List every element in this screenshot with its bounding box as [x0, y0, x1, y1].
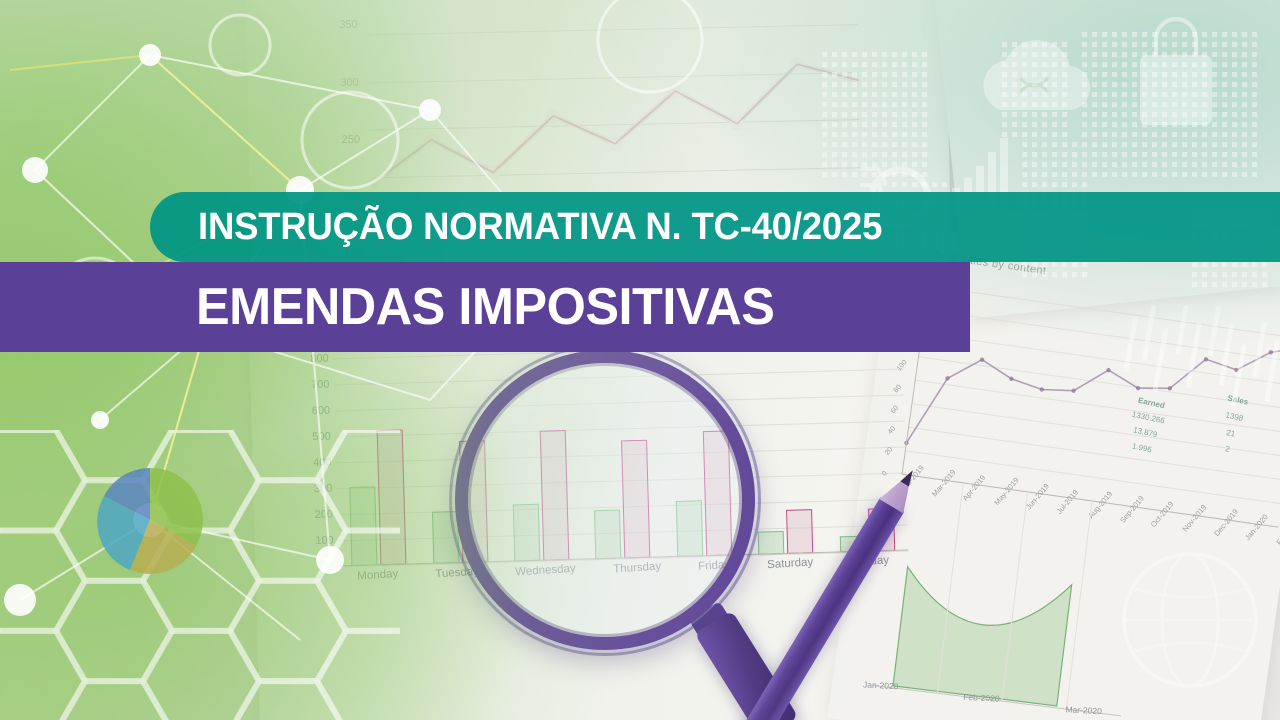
cloud-sync-icon	[983, 40, 1090, 110]
x-tick-label: Jan-2020	[863, 679, 899, 691]
lock-icon	[1140, 19, 1212, 125]
node-network-graphic	[0, 0, 760, 720]
x-tick-label: Mar-2020	[1065, 704, 1102, 716]
globe-icon	[1110, 540, 1270, 700]
banner-title-line1: INSTRUÇÃO NORMATIVA N. TC-40/2025	[198, 206, 882, 249]
poster-canvas: 150200250300350 010020030040050060070080…	[0, 0, 1280, 720]
bar-group	[753, 345, 814, 554]
bar	[758, 531, 785, 555]
small-pie-icon	[97, 468, 203, 574]
banner-title-line2: EMENDAS IMPOSITIVAS	[196, 277, 774, 337]
x-tick-label: Saturday	[767, 556, 815, 593]
banner-purple: EMENDAS IMPOSITIVAS	[0, 262, 970, 352]
banner-teal: INSTRUÇÃO NORMATIVA N. TC-40/2025	[150, 192, 1280, 262]
x-tick-label: Feb-2020	[963, 692, 1000, 704]
bar	[786, 509, 813, 554]
